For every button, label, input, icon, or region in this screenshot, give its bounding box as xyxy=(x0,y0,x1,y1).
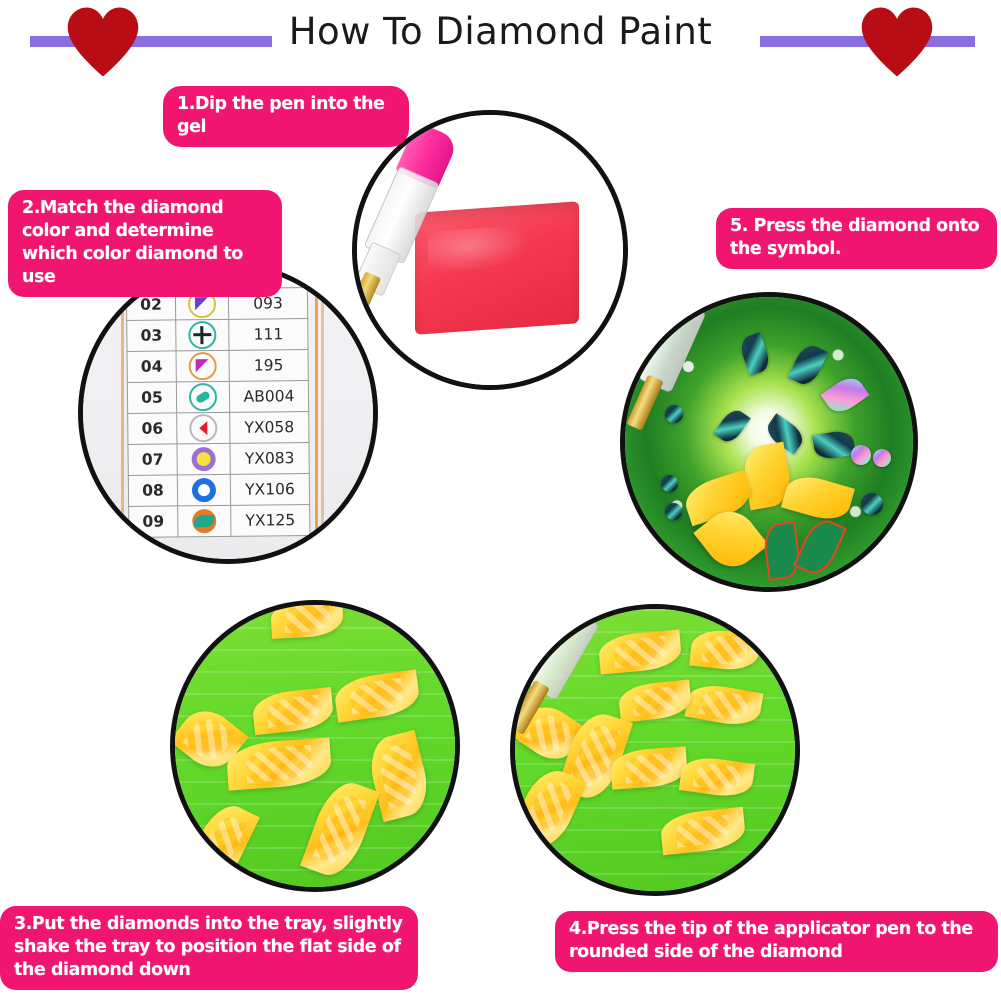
chart-code-cell: YX058 xyxy=(230,412,309,444)
chart-code-cell: 195 xyxy=(229,350,308,382)
chart-margin-stripe xyxy=(315,267,318,559)
photo-diamonds-in-tray xyxy=(170,600,460,892)
photo-pen-picking-diamond xyxy=(510,604,800,896)
page-header: How To Diamond Paint xyxy=(0,0,1001,72)
canvas-scene xyxy=(625,297,913,587)
table-row: 08YX106 xyxy=(128,474,309,507)
chart-index-cell: 07 xyxy=(128,444,177,476)
table-row: 07YX083 xyxy=(128,443,309,476)
rhinestone xyxy=(665,503,682,520)
gel-square xyxy=(415,201,579,334)
chart-symbol-cell xyxy=(177,474,230,506)
step-3-label: 3.Put the diamonds into the tray, slight… xyxy=(0,906,418,990)
gel-scene xyxy=(357,115,623,385)
chart-symbol-cell xyxy=(177,443,230,475)
chart-margin-stripe xyxy=(121,267,124,559)
pen-tip xyxy=(626,374,663,430)
pickup-scene xyxy=(515,609,795,891)
rhinestone xyxy=(861,493,883,515)
chevron-symbol xyxy=(189,414,217,442)
page-title: How To Diamond Paint xyxy=(0,10,1001,53)
chart-index-cell: 04 xyxy=(127,351,176,383)
chart-code-cell: YX125 xyxy=(231,505,310,537)
chart-code-cell: 111 xyxy=(229,319,308,351)
chart-code-cell: YX083 xyxy=(230,443,309,475)
step-2-label: 2.Match the diamond color and determine … xyxy=(8,190,282,297)
table-row: 09YX125 xyxy=(129,505,310,538)
chart-code-cell: AB004 xyxy=(229,381,308,413)
leaf-symbol xyxy=(192,509,216,533)
tray-scene xyxy=(175,605,455,887)
table-row: 03 111 xyxy=(127,319,308,352)
photo-placing-diamond-on-canvas xyxy=(620,292,918,592)
chart-code-cell: YX106 xyxy=(230,474,309,506)
chart-index-cell: 09 xyxy=(129,506,178,538)
chart-index-cell: 06 xyxy=(128,413,177,445)
color-chart-scene: 01 0280209303 1110419505AB00406YX05807YX… xyxy=(83,267,373,559)
photo-pen-dipping-into-gel xyxy=(352,110,628,390)
triangle-symbol xyxy=(189,352,217,380)
rhinestone xyxy=(661,475,678,492)
chart-symbol-cell xyxy=(176,319,229,351)
color-code-table: 01 0280209303 1110419505AB00406YX05807YX… xyxy=(126,262,311,538)
ring-symbol xyxy=(192,478,216,502)
dot-in-ring-symbol xyxy=(192,447,216,471)
photo-color-code-chart: 01 0280209303 1110419505AB00406YX05807YX… xyxy=(78,262,378,564)
rhinestone xyxy=(665,405,683,423)
table-row: 05AB004 xyxy=(127,381,308,414)
table-row: 06YX058 xyxy=(128,412,309,445)
chart-margin-stripe xyxy=(321,267,324,559)
plus-symbol xyxy=(188,321,216,349)
step-1-label: 1.Dip the pen into the gel xyxy=(163,86,409,147)
chart-index-cell: 03 xyxy=(127,320,176,352)
chart-symbol-cell xyxy=(177,412,230,444)
chart-index-cell: 05 xyxy=(127,382,176,414)
pill-symbol xyxy=(189,383,217,411)
step-5-label: 5. Press the diamond onto the symbol. xyxy=(716,208,997,269)
rhinestone xyxy=(851,445,871,465)
chart-symbol-cell xyxy=(176,381,229,413)
chart-index-cell: 08 xyxy=(128,475,177,507)
chart-symbol-cell xyxy=(176,350,229,382)
chart-symbol-cell xyxy=(178,505,231,537)
table-row: 04195 xyxy=(127,350,308,383)
step-4-label: 4.Press the tip of the applicator pen to… xyxy=(555,911,998,972)
rhinestone xyxy=(873,449,891,467)
